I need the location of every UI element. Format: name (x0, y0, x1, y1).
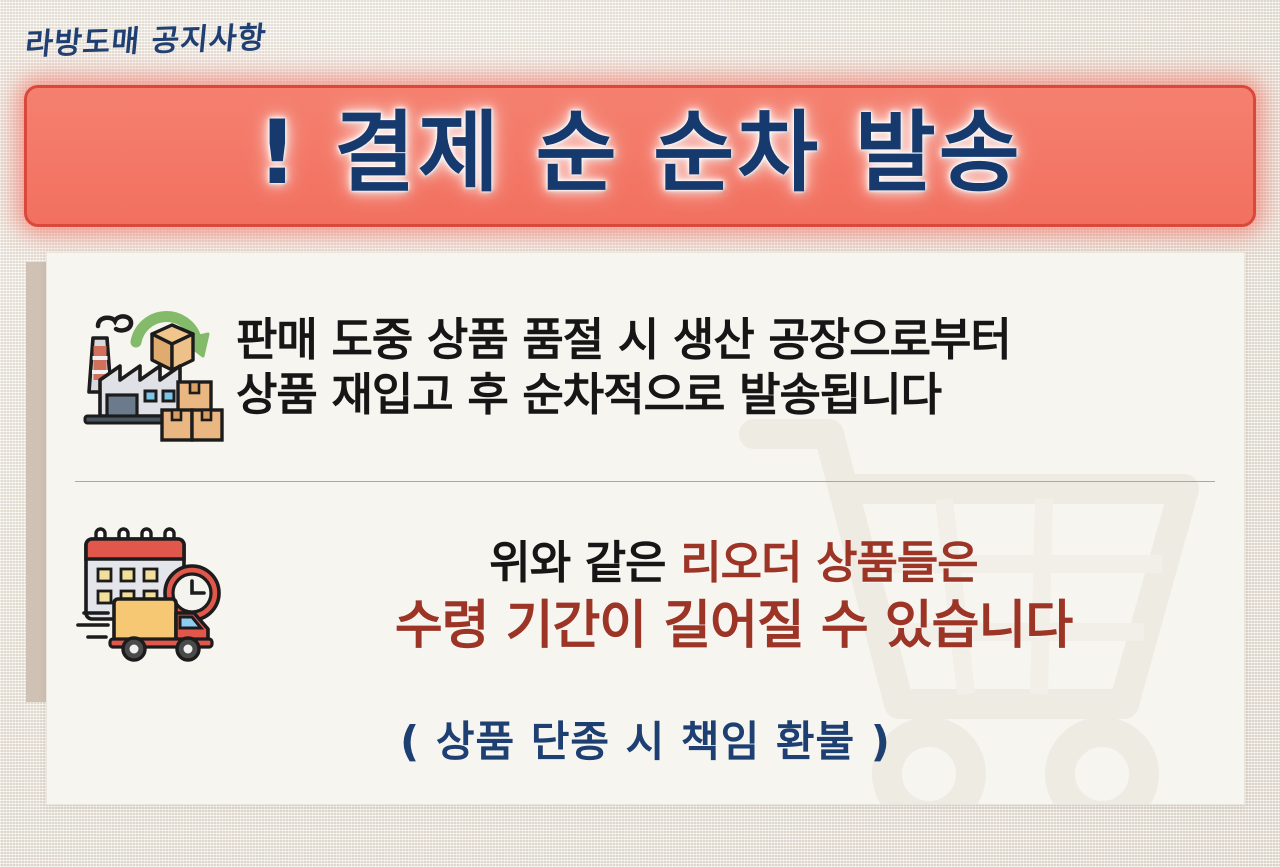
reorder-line-1-black: 위와 같은 (489, 536, 680, 589)
reorder-line-2: 수령 기간이 길어질 수 있습니다 (236, 595, 1231, 658)
reorder-line-1-red: 리오더 상품들은 (680, 536, 977, 589)
card-accent-bar (26, 262, 48, 702)
restock-line-1: 판매 도중 상품 품절 시 생산 공장으로부터 (236, 313, 1231, 368)
brand-title: 라방도매 공지사항 (24, 13, 269, 64)
calendar-delivery-truck-icon (71, 521, 236, 671)
factory-restock-icon (71, 294, 236, 442)
footnote-text: ( 상품 단종 시 책임 환불 ) (47, 708, 1244, 769)
row-reorder: 위와 같은 리오더 상품들은 수령 기간이 길어질 수 있습니다 (71, 508, 1231, 683)
section-divider (75, 481, 1215, 482)
headline-banner: ! 결제 순 순차 발송 (24, 85, 1256, 227)
row-restock: 판매 도중 상품 품절 시 생산 공장으로부터 상품 재입고 후 순차적으로 발… (71, 283, 1231, 453)
notice-page: 라방도매 공지사항 ! 결제 순 순차 발송 (0, 0, 1280, 867)
headline-text: ! 결제 순 순차 발송 (257, 109, 1022, 203)
content-card: 판매 도중 상품 품절 시 생산 공장으로부터 상품 재입고 후 순차적으로 발… (46, 252, 1245, 805)
reorder-line-1: 위와 같은 리오더 상품들은 (236, 533, 1231, 591)
row-restock-text: 판매 도중 상품 품절 시 생산 공장으로부터 상품 재입고 후 순차적으로 발… (236, 313, 1231, 423)
restock-line-2: 상품 재입고 후 순차적으로 발송됩니다 (236, 368, 1231, 423)
row-reorder-text: 위와 같은 리오더 상품들은 수령 기간이 길어질 수 있습니다 (236, 533, 1231, 658)
